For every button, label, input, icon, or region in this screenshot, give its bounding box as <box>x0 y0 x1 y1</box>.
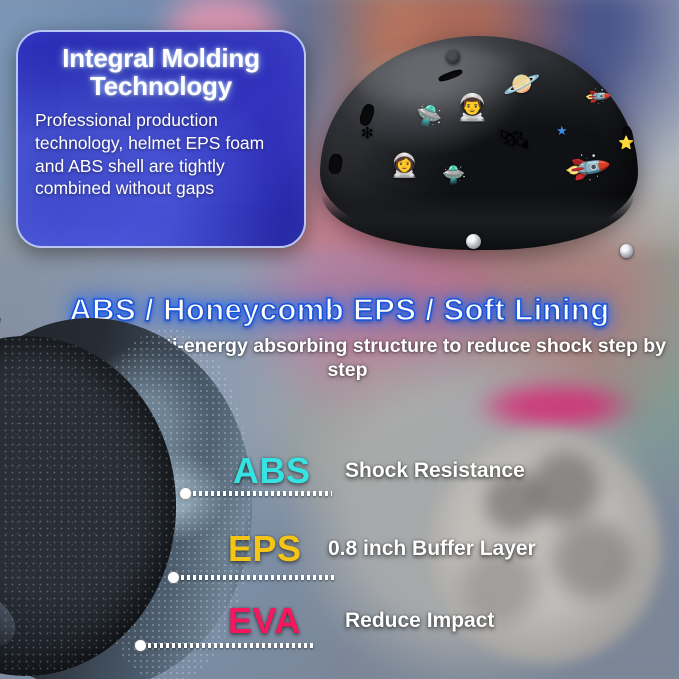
layer-desc-eva: Reduce Impact <box>345 609 494 633</box>
infographic-canvas: 🪐 👨‍🚀 🛸 ❇ 🚀 ★ ⭐ 🛰 🚀 👩‍🚀 🛸 Integral Moldi… <box>0 0 679 679</box>
astronaut-riding-sticker-icon: 👩‍🚀 <box>390 154 419 177</box>
integral-molding-callout: Integral Molding Technology Professional… <box>16 30 306 248</box>
callout-title: Integral Molding Technology <box>35 44 287 100</box>
sparkle-sticker-icon: ❇ <box>361 126 374 141</box>
layer-row-abs: ABS Shock Resistance <box>0 450 679 506</box>
layer-tag-abs: ABS <box>233 450 311 492</box>
layer-desc-abs: Shock Resistance <box>345 459 525 483</box>
satellite-sticker-icon: 🛰 <box>498 126 531 152</box>
leader-dash-line <box>181 575 334 580</box>
leader-dash-line <box>148 643 315 648</box>
planet-sticker-icon: 🪐 <box>503 70 540 100</box>
blurred-controller-shape <box>475 382 635 430</box>
layer-tag-eva: EVA <box>228 600 301 642</box>
leader-dot-icon <box>168 572 179 583</box>
yellow-star-sticker-icon: ⭐ <box>618 136 634 149</box>
layer-row-eps: EPS 0.8 inch Buffer Layer <box>0 528 679 584</box>
layer-desc-eps: 0.8 inch Buffer Layer <box>328 537 536 561</box>
helmet-strap-rivet <box>466 234 481 249</box>
callout-body: Professional production technology, helm… <box>35 109 287 200</box>
helmet-strap-rivet <box>620 244 633 258</box>
leader-dot-icon <box>180 488 191 499</box>
flying-saucer-sticker-icon: 🛸 <box>416 106 442 127</box>
astronaut-sticker-icon: 👨‍🚀 <box>456 94 488 120</box>
layer-tag-eps: EPS <box>228 528 302 570</box>
blue-star-sticker-icon: ★ <box>556 124 568 137</box>
helmet-top-vent-rivet <box>446 50 460 64</box>
leader-dot-icon <box>135 640 146 651</box>
helmet-product-photo: 🪐 👨‍🚀 🛸 ❇ 🚀 ★ ⭐ 🛰 🚀 👩‍🚀 🛸 <box>298 26 658 258</box>
layer-row-eva: EVA Reduce Impact <box>0 600 679 656</box>
leader-line-eps <box>168 572 334 583</box>
